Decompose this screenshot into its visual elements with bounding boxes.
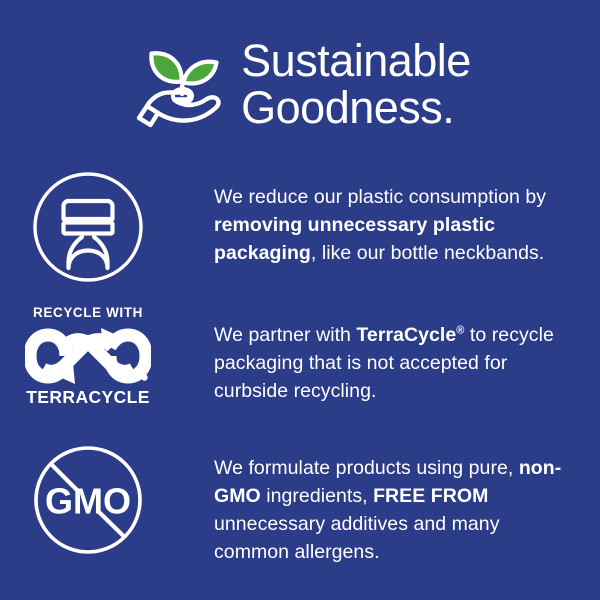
hand-holding-sprout-icon (129, 34, 233, 138)
terracycle-logo: RECYCLE WITH (23, 305, 153, 407)
no-gmo-circle-icon: GMO (31, 443, 145, 557)
feature-text: We formulate products using pure, non-GM… (214, 454, 574, 566)
page-title: Sustainable Goodness. (241, 37, 471, 135)
terracycle-infinity-icon (25, 325, 151, 387)
gmo-label: GMO (45, 481, 131, 522)
header: Sustainable Goodness. (0, 26, 600, 146)
terracycle-top-label: RECYCLE WITH (33, 305, 143, 321)
feature-icon-cell (0, 170, 176, 288)
feature-text-cell: We reduce our plastic consumption by rem… (176, 170, 600, 267)
feature-icon-cell: RECYCLE WITH (0, 305, 176, 423)
plastic-bottle-circle-icon (31, 170, 145, 284)
sustainable-goodness-poster: Sustainable Goodness. We reduce our plas… (0, 0, 600, 600)
feature-text-cell: We formulate products using pure, non-GM… (176, 443, 600, 566)
feature-row-gmo: GMO We formulate products using pure, no… (0, 443, 600, 571)
feature-text: We reduce our plastic consumption by rem… (214, 183, 574, 267)
feature-text: We partner with TerraCycle® to recycle p… (214, 321, 574, 405)
feature-row-plastic: We reduce our plastic consumption by rem… (0, 170, 600, 288)
feature-text-cell: We partner with TerraCycle® to recycle p… (176, 305, 600, 405)
feature-icon-cell: GMO (0, 443, 176, 561)
terracycle-bottom-label: TERRACYCLE (26, 388, 150, 407)
feature-row-terracycle: RECYCLE WITH (0, 305, 600, 423)
